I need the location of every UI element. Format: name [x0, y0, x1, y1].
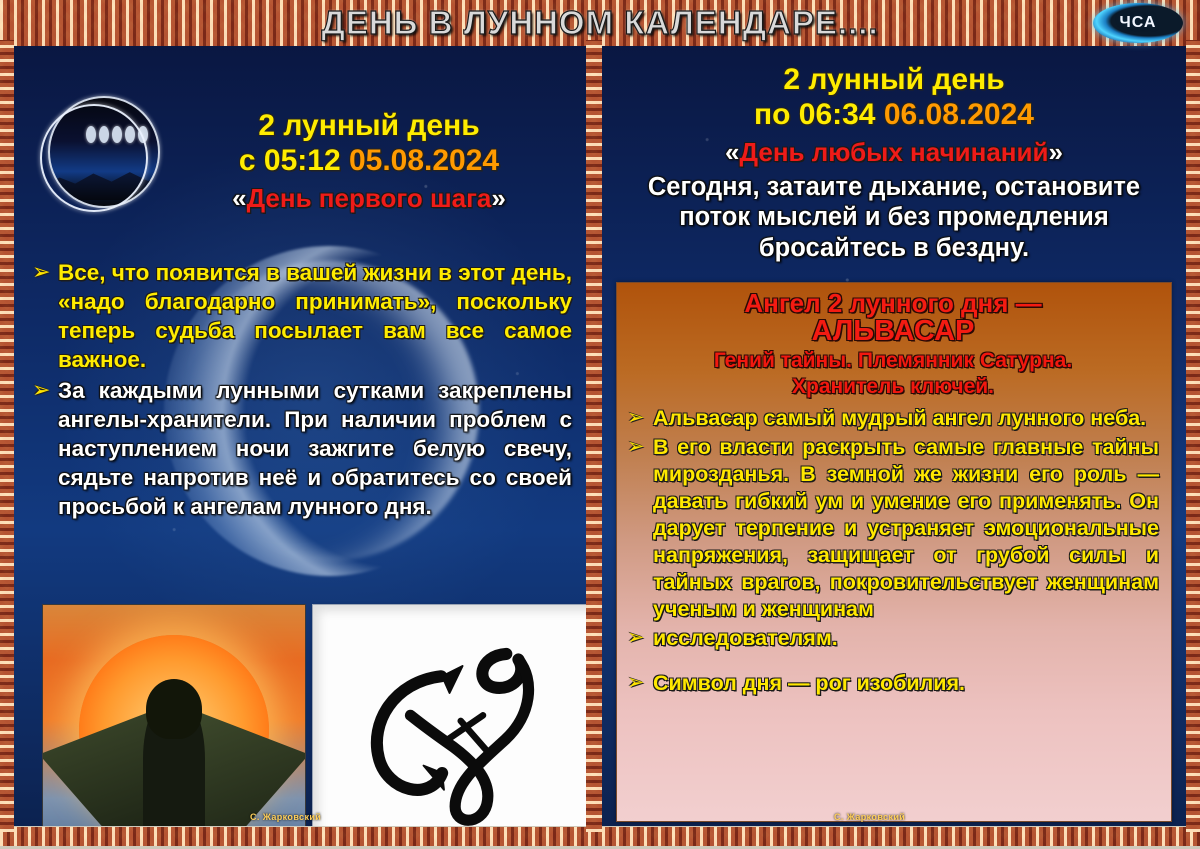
angel-sigil-image — [312, 604, 586, 826]
left-quote-open: « — [232, 183, 246, 213]
bullet-arrow-icon: ➢ — [32, 376, 58, 404]
right-quote-name: День любых начинаний — [740, 137, 1049, 167]
left-signature: С. Жарковский — [250, 812, 321, 822]
left-panel-body: ➢ Все, что появится в вашей жизни в этот… — [32, 258, 572, 523]
list-item: ➢ Все, что появится в вашей жизни в этот… — [32, 258, 572, 374]
angel-sunset-photo — [42, 604, 306, 826]
angel-info-box: Ангел 2 лунного дня — АЛЬВАСАР Гений тай… — [616, 282, 1172, 822]
logo-ring-icon: ЧСА — [1093, 3, 1183, 43]
left-panel: 2 лунный день с 05:12 05.08.2024 «День п… — [14, 46, 586, 826]
left-quote-close: » — [491, 183, 505, 213]
right-time-prefix: по 06:34 — [754, 98, 876, 131]
right-quote-close: » — [1048, 137, 1062, 167]
right-ornament-edge — [1186, 40, 1200, 832]
list-item: ➢ За каждыми лунными сутками закреплены … — [32, 376, 572, 521]
bullet-spacer — [627, 654, 1159, 670]
right-signature: С. Жарковский — [834, 812, 905, 822]
left-ornament-edge — [0, 40, 14, 832]
moon-phases-icon — [40, 94, 158, 212]
list-item: ➢ Альвасар самый мудрый ангел лунного не… — [627, 405, 1159, 432]
right-quote-open: « — [725, 137, 739, 167]
bullet-arrow-icon: ➢ — [627, 625, 653, 651]
left-quote-name: День первого шага — [247, 183, 492, 213]
left-time-row: с 05:12 05.08.2024 — [164, 143, 574, 178]
right-quote-row: «День любых начинаний» — [614, 137, 1174, 168]
list-item-text: В его власти раскрыть самые главные тайн… — [653, 434, 1159, 624]
list-item-text: Символ дня — рог изобилия. — [653, 670, 1159, 697]
panel-divider-ornament — [586, 40, 602, 832]
angel-title-line1: Ангел 2 лунного дня — — [627, 289, 1159, 318]
angel-title-line2: АЛЬВАСАР — [627, 316, 1159, 348]
left-quote-row: «День первого шага» — [164, 183, 574, 214]
right-intro-text: Сегодня, затаите дыхание, остановите пот… — [614, 172, 1174, 264]
angel-bullet-list: ➢ Альвасар самый мудрый ангел лунного не… — [627, 405, 1159, 698]
right-time-row: по 06:34 06.08.2024 — [614, 97, 1174, 132]
bullet-arrow-icon: ➢ — [32, 258, 58, 286]
list-item: ➢ Символ дня — рог изобилия. — [627, 670, 1159, 697]
list-item-text: Все, что появится в вашей жизни в этот д… — [58, 258, 572, 374]
right-day-title: 2 лунный день — [614, 62, 1174, 97]
logo-label: ЧСА — [1120, 14, 1157, 32]
right-panel: 2 лунный день по 06:34 06.08.2024 «День … — [602, 46, 1186, 826]
left-time-prefix: с 05:12 — [239, 144, 341, 177]
chsa-logo[interactable]: ЧСА — [1090, 2, 1186, 44]
bullet-arrow-icon: ➢ — [627, 405, 653, 431]
angel-subtitle-line1: Гений тайны. Племянник Сатурна. — [627, 349, 1159, 373]
list-item-text: Альвасар самый мудрый ангел лунного неба… — [653, 405, 1159, 432]
bullet-arrow-icon: ➢ — [627, 670, 653, 696]
right-date: 06.08.2024 — [884, 98, 1034, 131]
angel-subtitle-line2: Хранитель ключей. — [627, 375, 1159, 399]
moon-badge-ring — [40, 104, 148, 212]
left-day-title: 2 лунный день — [164, 108, 574, 143]
list-item-text: исследователям. — [653, 625, 1159, 652]
lunar-calendar-poster: ДЕНЬ В ЛУННОМ КАЛЕНДАРЕ.... ЧСА 2 лунный… — [0, 0, 1200, 849]
left-date: 05.08.2024 — [349, 144, 499, 177]
list-item-text: За каждыми лунными сутками закреплены ан… — [58, 376, 572, 521]
list-item: ➢ исследователям. — [627, 625, 1159, 652]
list-item: ➢ В его власти раскрыть самые главные та… — [627, 434, 1159, 624]
bullet-arrow-icon: ➢ — [627, 434, 653, 460]
angel-head — [146, 679, 202, 739]
right-panel-heading: 2 лунный день по 06:34 06.08.2024 «День … — [614, 62, 1174, 264]
sigil-glyph-icon — [343, 626, 571, 827]
left-panel-heading: 2 лунный день с 05:12 05.08.2024 «День п… — [164, 108, 574, 214]
